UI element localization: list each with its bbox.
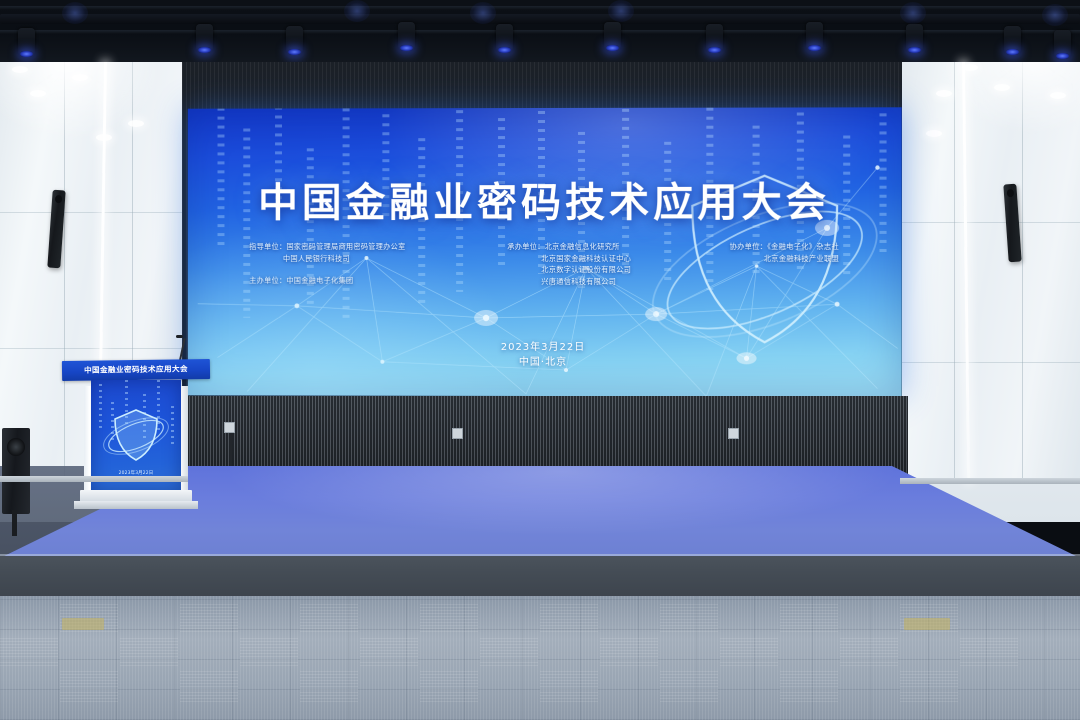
ceiling-light-glow [470, 2, 496, 24]
recessed-downlight [926, 130, 942, 137]
wall-seam [954, 62, 955, 482]
organizer-column-coorganizer: 协办单位：《金融电子化》杂志社 北京金融科技产业联盟 [730, 241, 840, 287]
carpet-tile [540, 670, 598, 702]
carpet-tile [780, 604, 838, 632]
event-title: 中国金融业密码技术应用大会 [188, 170, 902, 229]
podium-lectern: 中国金融业密码技术应用大会 2023年3月22日 中国·北京 [58, 360, 218, 512]
stage-backdrop-slat-wall [186, 396, 908, 476]
carpet-tile [480, 636, 538, 666]
podium-title: 中国金融业密码技术应用大会 [62, 359, 210, 381]
ceiling-light-glow [344, 0, 370, 22]
carpet-tile [0, 636, 58, 666]
carpet-tile [240, 636, 298, 666]
organizer-line: 主办单位：中国金融电子化集团 [249, 275, 405, 287]
wall-speaker-icon [1003, 184, 1021, 263]
organizer-line: 北京金融科技产业联盟 [730, 253, 840, 265]
recessed-downlight [994, 84, 1010, 91]
stage-light-fixture [1054, 30, 1071, 60]
wall-outlet [224, 422, 235, 433]
stage-light-fixture [398, 22, 415, 52]
floor-carpet [0, 596, 1080, 720]
power-cable [230, 428, 232, 466]
carpet-tile [900, 670, 958, 702]
ceiling-light-glow [608, 0, 634, 22]
carpet-tile [300, 670, 358, 702]
conference-stage-scene: 中国金融业密码技术应用大会 指导单位：国家密码管理局商用密码管理办公室 中国人民… [0, 0, 1080, 720]
organizer-line: 中国人民银行科技司 [249, 252, 405, 263]
stage-light-fixture [604, 22, 621, 52]
wall-seam [0, 348, 182, 349]
carpet-tile [60, 670, 118, 702]
floor-speaker-icon [2, 428, 30, 514]
wall-outlet [452, 428, 463, 439]
carpet-tile [420, 670, 478, 702]
wall-baseboard [900, 478, 1080, 484]
organizer-line: 兴唐通信科技有限公司 [507, 275, 631, 287]
stage-light-fixture [806, 22, 823, 52]
wall-seam [902, 222, 1080, 223]
carpet-tile [180, 670, 238, 702]
stage-light-fixture [706, 24, 723, 54]
event-date: 2023年3月22日 [188, 340, 902, 356]
carpet-tile [960, 636, 1018, 666]
recessed-downlight [30, 90, 46, 97]
recessed-downlight [936, 90, 952, 97]
podium-plinth [74, 501, 198, 509]
wall-speaker-icon [47, 190, 65, 269]
event-datetime-block: 2023年3月22日 中国·北京 [188, 340, 902, 371]
carpet-tile [660, 604, 718, 632]
ceiling-light-glow [1042, 4, 1068, 26]
organizer-block: 指导单位：国家密码管理局商用密码管理办公室 中国人民银行科技司 主办单位：中国金… [249, 241, 839, 287]
stage-light-fixture [196, 24, 213, 54]
organizer-line: 北京数字认证股份有限公司 [507, 264, 631, 276]
carpet-tile [780, 670, 838, 702]
event-location: 中国·北京 [188, 354, 902, 370]
led-display-screen: 中国金融业密码技术应用大会 指导单位：国家密码管理局商用密码管理办公室 中国人民… [188, 107, 902, 396]
organizer-line: 北京国家金融科技认证中心 [507, 252, 631, 264]
organizer-line: 协办单位：《金融电子化》杂志社 [730, 241, 840, 253]
wall-seam [902, 362, 1080, 363]
organizer-column-host: 承办单位：北京金融信息化研究所 北京国家金融科技认证中心 北京数字认证股份有限公… [507, 241, 631, 287]
carpet-tile [720, 636, 778, 666]
stage-light-fixture [1004, 26, 1021, 56]
organizer-line: 指导单位：国家密码管理局商用密码管理办公室 [249, 241, 405, 252]
stage-light-fixture [286, 26, 303, 56]
ceiling-light-glow [62, 2, 88, 24]
podium-header-band: 中国金融业密码技术应用大会 [62, 359, 210, 381]
carpet-tile [600, 636, 658, 666]
carpet-tile [300, 604, 358, 632]
stage-light-fixture [906, 24, 923, 54]
carpet-marking [62, 618, 104, 630]
recessed-downlight [12, 66, 28, 73]
speaker-stand [12, 510, 17, 536]
stage-light-fixture [496, 24, 513, 54]
carpet-tile [180, 604, 238, 632]
carpet-tile [660, 670, 718, 702]
carpet-tile [360, 636, 418, 666]
carpet-tile [540, 604, 598, 632]
carpet-tile [840, 636, 898, 666]
organizer-column-guidance: 指导单位：国家密码管理局商用密码管理办公室 中国人民银行科技司 主办单位：中国金… [249, 241, 405, 287]
wall-seam [0, 212, 182, 213]
carpet-tile [120, 636, 178, 666]
microphone-icon [176, 335, 183, 338]
wall-outlet [728, 428, 739, 439]
carpet-marking [904, 618, 950, 630]
recessed-downlight [1050, 92, 1066, 99]
right-wall-panels [902, 62, 1080, 482]
recessed-downlight [72, 74, 88, 81]
carpet-tile [420, 604, 478, 632]
stage-light-fixture [18, 28, 35, 58]
wall-baseboard [0, 476, 188, 482]
organizer-line: 承办单位：北京金融信息化研究所 [507, 241, 631, 253]
stage-front-skirt [0, 556, 1080, 598]
ceiling-light-glow [900, 2, 926, 24]
recessed-downlight [128, 120, 144, 127]
